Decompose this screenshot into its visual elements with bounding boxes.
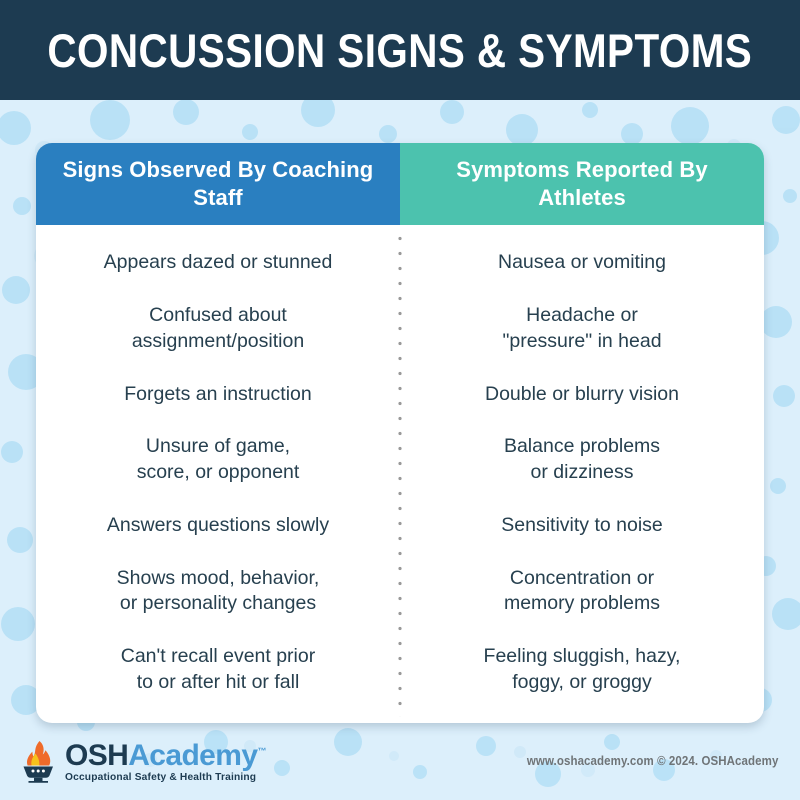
list-item: Forgets an instruction [54, 382, 382, 408]
list-item: Nausea or vomiting [418, 250, 746, 276]
list-item: Balance problems or dizziness [418, 434, 746, 485]
page-title: CONCUSSION SIGNS & SYMPTOMS [48, 27, 753, 74]
title-band: CONCUSSION SIGNS & SYMPTOMS [0, 0, 800, 100]
list-item: Concentration or memory problems [418, 566, 746, 617]
trademark-symbol: ™ [257, 746, 265, 756]
column-signs-list: Appears dazed or stunned Confused about … [36, 225, 400, 723]
column-symptoms-list: Nausea or vomiting Headache or "pressure… [400, 225, 764, 723]
card-body: Appears dazed or stunned Confused about … [36, 225, 764, 723]
copyright-text: www.oshacademy.com © 2024. OSHAcademy [526, 754, 778, 768]
logo-tagline: Occupational Safety & Health Training [65, 772, 266, 783]
list-item: Headache or "pressure" in head [418, 303, 746, 354]
card-header-row: Signs Observed By Coaching Staff Symptom… [36, 143, 764, 225]
list-item: Double or blurry vision [418, 382, 746, 408]
list-item: Feeling sluggish, hazy, foggy, or groggy [418, 644, 746, 695]
list-item: Appears dazed or stunned [54, 250, 382, 276]
logo-word-osh: OSH [65, 739, 128, 772]
logo-word-academy: Academy [128, 739, 257, 772]
list-item: Shows mood, behavior, or personality cha… [54, 566, 382, 617]
column-header-symptoms: Symptoms Reported By Athletes [400, 143, 764, 225]
list-item: Can't recall event prior to or after hit… [54, 644, 382, 695]
column-header-signs: Signs Observed By Coaching Staff [36, 143, 400, 225]
list-item: Sensitivity to noise [418, 513, 746, 539]
list-item: Unsure of game, score, or opponent [54, 434, 382, 485]
footer: OSHAcademy™ Occupational Safety & Health… [0, 722, 800, 800]
list-item: Confused about assignment/position [54, 303, 382, 354]
logo-wordmark: OSHAcademy™ [65, 741, 266, 771]
oshacademy-logo: OSHAcademy™ Occupational Safety & Health… [14, 737, 266, 785]
comparison-card: Signs Observed By Coaching Staff Symptom… [36, 143, 764, 723]
logo-wordmark-group: OSHAcademy™ Occupational Safety & Health… [65, 739, 266, 783]
torch-flame-icon [14, 737, 62, 785]
infographic-poster: CONCUSSION SIGNS & SYMPTOMS Signs Observ… [0, 0, 800, 800]
dotted-column-divider [398, 231, 402, 717]
list-item: Answers questions slowly [54, 513, 382, 539]
